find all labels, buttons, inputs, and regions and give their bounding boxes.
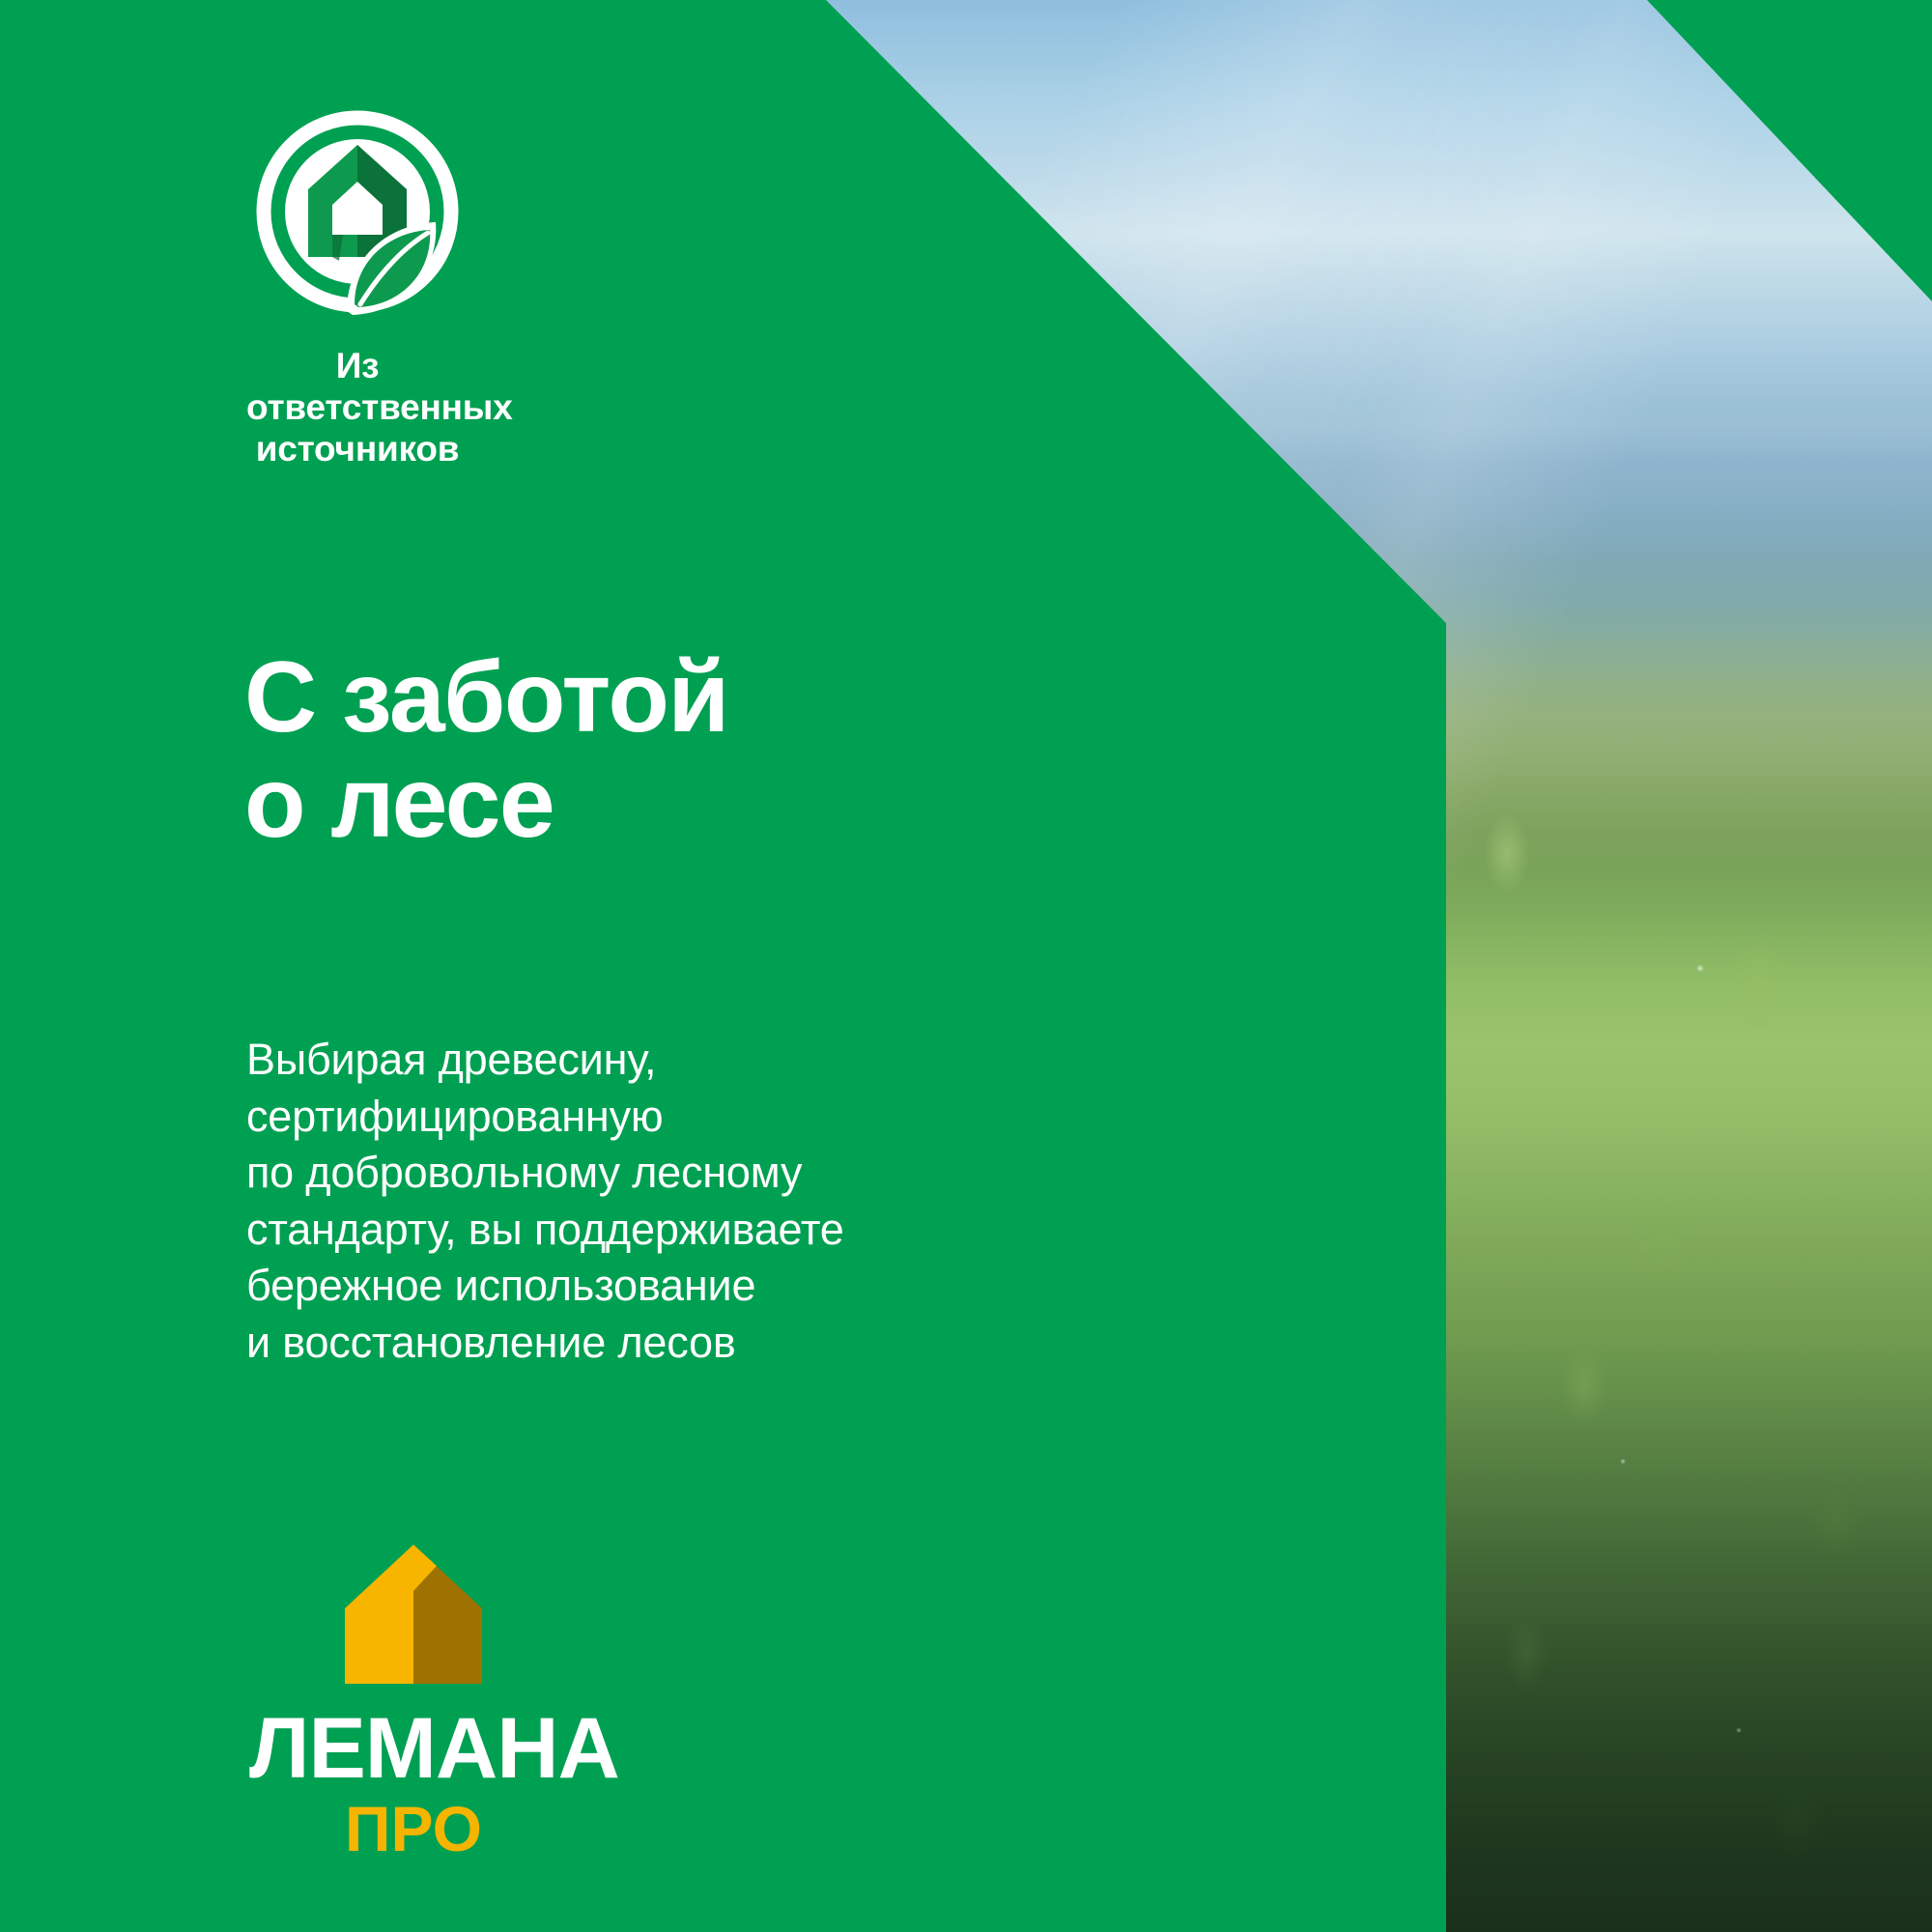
body-paragraph: Выбирая древесину, сертифицированную по …: [246, 1032, 844, 1371]
brand-suffix: ПРО: [249, 1797, 578, 1861]
responsible-sources-badge: Из ответственных источников: [246, 106, 469, 470]
poster-canvas: Из ответственных источников С заботой о …: [0, 0, 1932, 1932]
brand-lockup: ЛЕМАНА ПРО: [249, 1541, 578, 1861]
page-title: С заботой о лесе: [244, 645, 728, 856]
house-leaf-circle-icon: [246, 106, 469, 328]
lemana-roof-icon: [337, 1541, 490, 1686]
responsible-sources-caption: Из ответственных источников: [246, 346, 469, 470]
brand-name: ЛЕМАНА: [249, 1705, 578, 1791]
poster-content: Из ответственных источников С заботой о …: [0, 0, 1932, 1932]
